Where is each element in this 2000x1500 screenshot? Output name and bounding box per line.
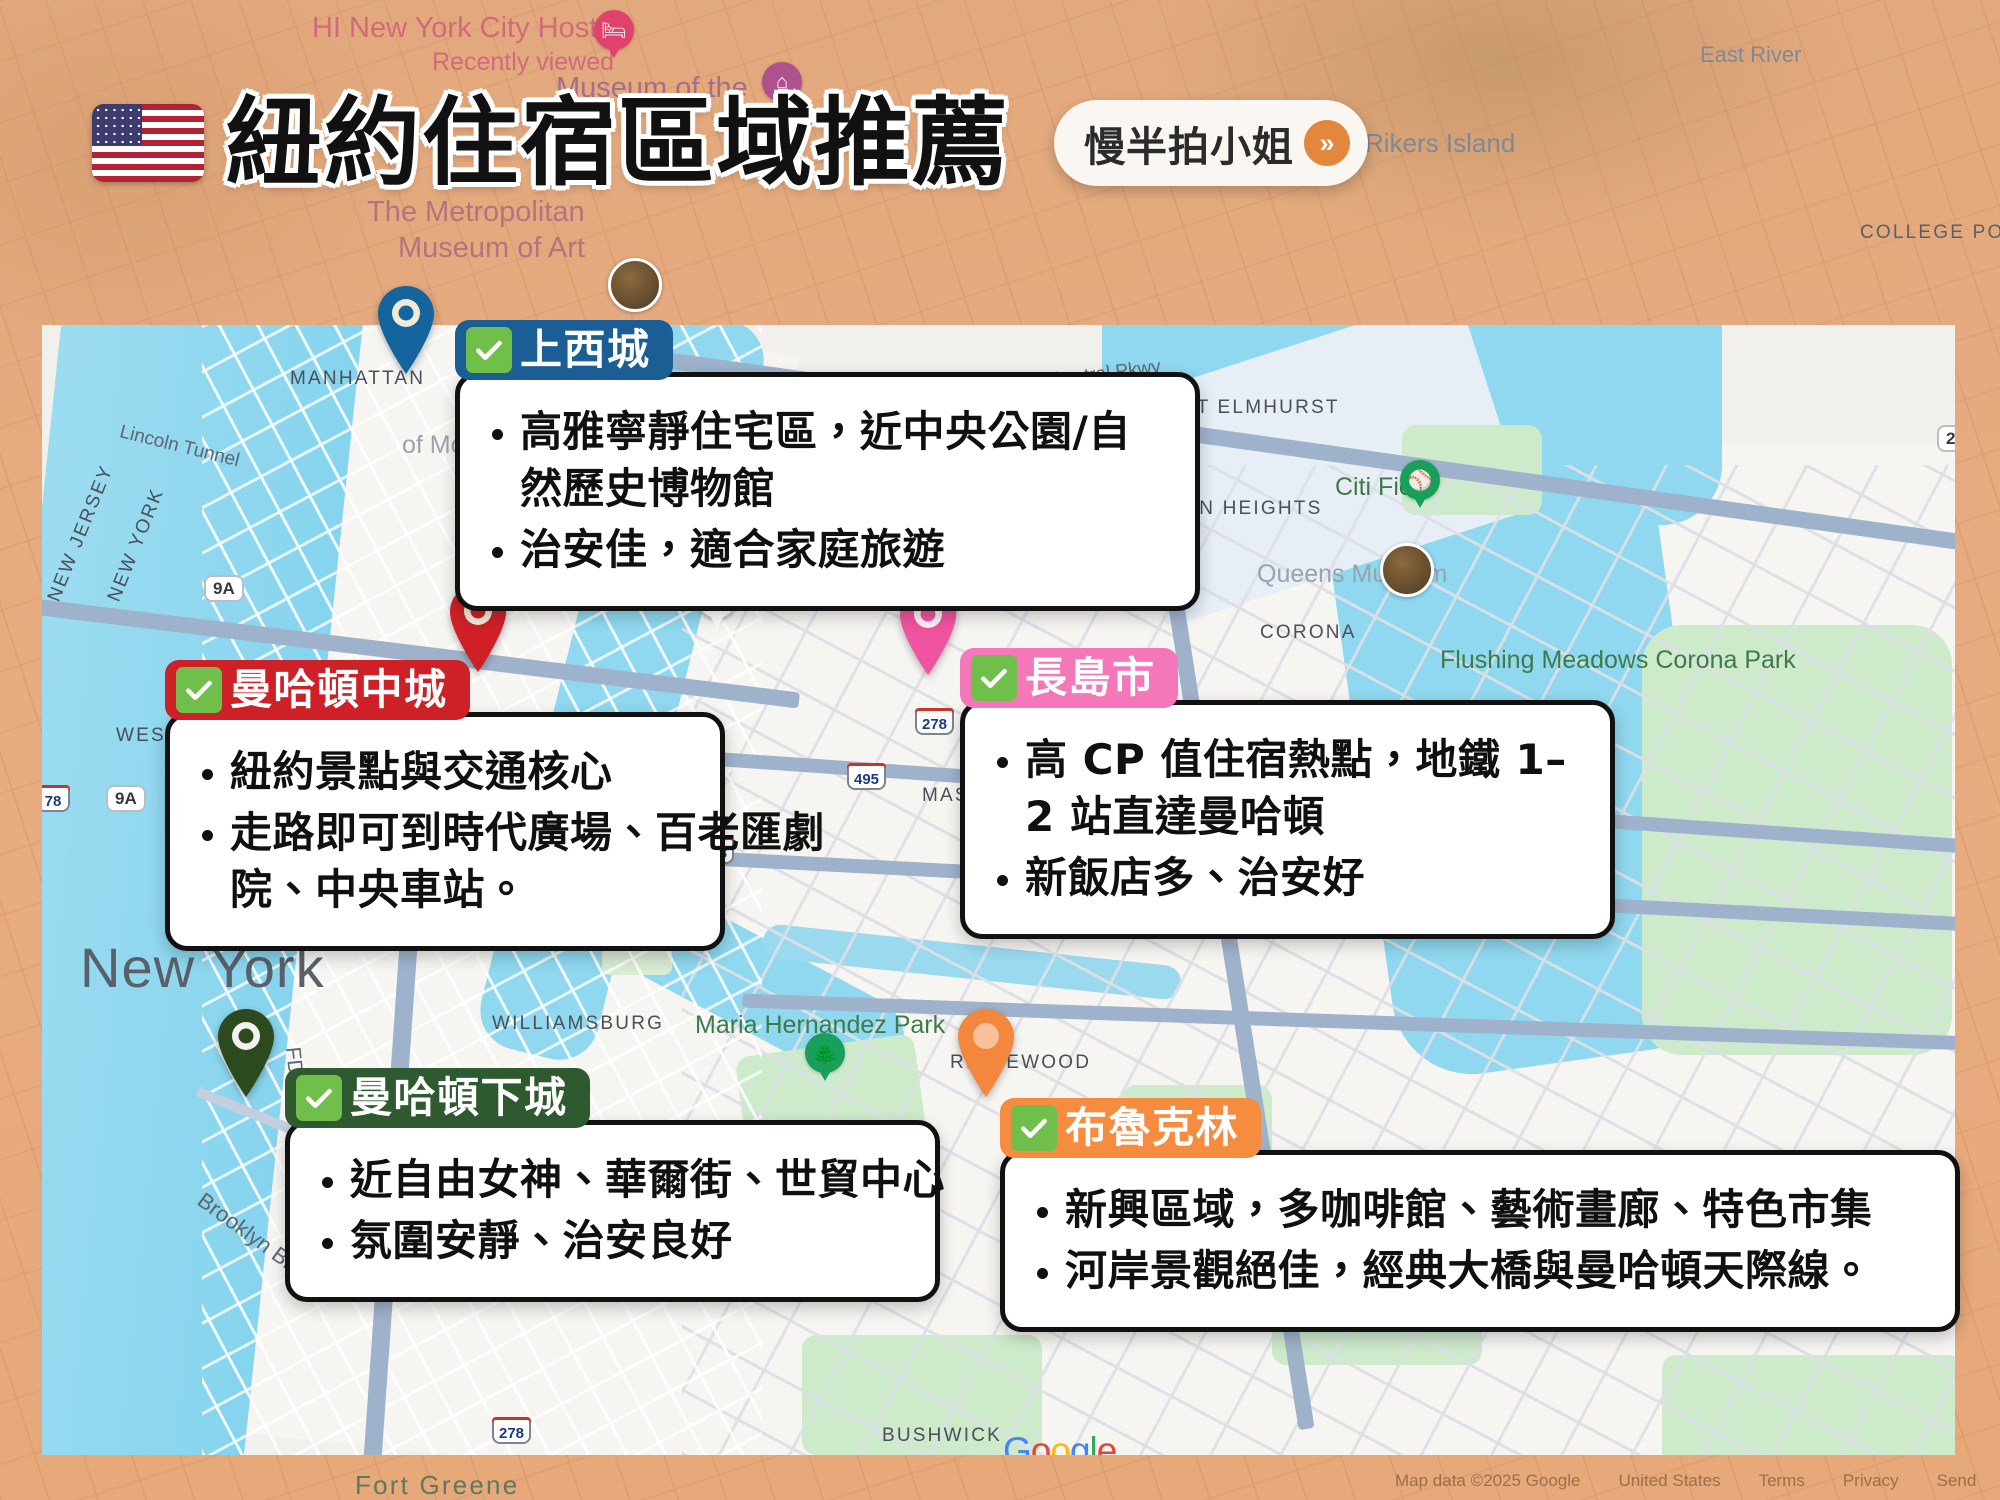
bullet-item: 治安佳，適合家庭旅遊 (486, 521, 1169, 578)
attribution-privacy[interactable]: Privacy (1843, 1471, 1899, 1491)
brand-badge[interactable]: 慢半拍小姐 » (1054, 100, 1368, 186)
metropolitan-museum-photo-icon[interactable] (608, 258, 662, 312)
route-shield-495: 495 (847, 763, 886, 790)
hotel-bed-icon-pin[interactable]: 🛏 (594, 10, 634, 62)
check-icon (296, 1075, 342, 1121)
map-pin-lower-manhattan[interactable] (210, 1005, 282, 1101)
attribution-terms[interactable]: Terms (1759, 1471, 1805, 1491)
callout-body-lower-manhattan: 近自由女神、華爾街、世貿中心 氛圍安靜、治安良好 (285, 1120, 940, 1302)
route-shield-78: 78 (42, 785, 70, 812)
callout-body-long-island-city: 高 CP 值住宿熱點，地鐵 1–2 站直達曼哈頓 新飯店多、治安好 (960, 700, 1615, 939)
double-chevron-right-icon: » (1304, 120, 1350, 166)
bullet-item: 新飯店多、治安好 (991, 849, 1584, 906)
page-title: 紐約住宿區域推薦 (226, 95, 1010, 191)
callout-long-island-city: 長島市 高 CP 值住宿熱點，地鐵 1–2 站直達曼哈頓 新飯店多、治安好 (960, 648, 1615, 939)
map-pin-upper-west-side[interactable] (370, 282, 442, 378)
bullet-item: 氛圍安靜、治安良好 (316, 1212, 909, 1269)
tag-upper-west-side[interactable]: 上西城 (455, 320, 673, 380)
attribution-text: Map data ©2025 Google (1395, 1471, 1581, 1491)
infographic-stage: MANHATTAN NEW JERSEY NEW YORK WEST VILLA… (0, 0, 2000, 1500)
google-logo: Google (1003, 1430, 1116, 1455)
route-shield-9a-2: 9A (106, 785, 146, 812)
bullet-item: 紐約景點與交通核心 (196, 743, 694, 800)
bullet-item: 近自由女神、華爾街、世貿中心 (316, 1151, 909, 1208)
map-attribution: Map data ©2025 Google United States Term… (1395, 1471, 1976, 1491)
tag-long-island-city[interactable]: 長島市 (960, 648, 1178, 708)
attribution-country[interactable]: United States (1619, 1471, 1721, 1491)
tag-label: 曼哈頓下城 (350, 1076, 568, 1120)
route-shield-278: 278 (915, 708, 954, 735)
bullet-item: 高 CP 值住宿熱點，地鐵 1–2 站直達曼哈頓 (991, 731, 1583, 845)
page-header: 紐約住宿區域推薦 慢半拍小姐 » (92, 95, 1368, 191)
stadium-icon-pin[interactable]: ⚾ (1400, 460, 1440, 512)
map-pin-brooklyn[interactable] (950, 1005, 1022, 1101)
tag-label: 布魯克林 (1065, 1106, 1239, 1150)
tag-label: 曼哈頓中城 (230, 668, 448, 712)
callout-lower-manhattan: 曼哈頓下城 近自由女神、華爾街、世貿中心 氛圍安靜、治安良好 (285, 1068, 940, 1302)
bullet-item: 走路即可到時代廣場、百老匯劇院、中央車站。 (196, 804, 876, 918)
route-shield-9a: 9A (204, 575, 244, 602)
route-shield-25a: 25A (1937, 425, 1955, 452)
route-shield-278-3: 278 (492, 1417, 531, 1444)
callout-upper-west-side: 上西城 高雅寧靜住宅區，近中央公園/自然歷史博物館 治安佳，適合家庭旅遊 (455, 320, 1200, 611)
check-icon (176, 667, 222, 713)
tag-label: 長島市 (1025, 656, 1156, 700)
bullet-item: 河岸景觀絕佳，經典大橋與曼哈頓天際線。 (1031, 1242, 1929, 1299)
check-icon (1011, 1105, 1057, 1151)
attribution-send[interactable]: Send (1937, 1471, 1977, 1491)
callout-midtown-manhattan: 曼哈頓中城 紐約景點與交通核心 走路即可到時代廣場、百老匯劇院、中央車站。 (165, 660, 725, 951)
bullet-item: 高雅寧靜住宅區，近中央公園/自然歷史博物館 (486, 403, 1166, 517)
brand-name: 慢半拍小姐 (1084, 113, 1294, 173)
callout-body-upper-west-side: 高雅寧靜住宅區，近中央公園/自然歷史博物館 治安佳，適合家庭旅遊 (455, 372, 1200, 611)
callout-brooklyn: 布魯克林 新興區域，多咖啡館、藝術畫廊、特色市集 河岸景觀絕佳，經典大橋與曼哈頓… (1000, 1098, 1960, 1332)
callout-body-midtown-manhattan: 紐約景點與交通核心 走路即可到時代廣場、百老匯劇院、中央車站。 (165, 712, 725, 951)
callout-body-brooklyn: 新興區域，多咖啡館、藝術畫廊、特色市集 河岸景觀絕佳，經典大橋與曼哈頓天際線。 (1000, 1150, 1960, 1332)
tag-midtown-manhattan[interactable]: 曼哈頓中城 (165, 660, 470, 720)
check-icon (971, 655, 1017, 701)
tag-brooklyn[interactable]: 布魯克林 (1000, 1098, 1261, 1158)
queens-museum-photo-icon[interactable] (1380, 543, 1434, 597)
tag-lower-manhattan[interactable]: 曼哈頓下城 (285, 1068, 590, 1128)
bullet-item: 新興區域，多咖啡館、藝術畫廊、特色市集 (1031, 1181, 1929, 1238)
check-icon (466, 327, 512, 373)
us-flag-icon (92, 104, 204, 182)
tag-label: 上西城 (520, 328, 651, 372)
